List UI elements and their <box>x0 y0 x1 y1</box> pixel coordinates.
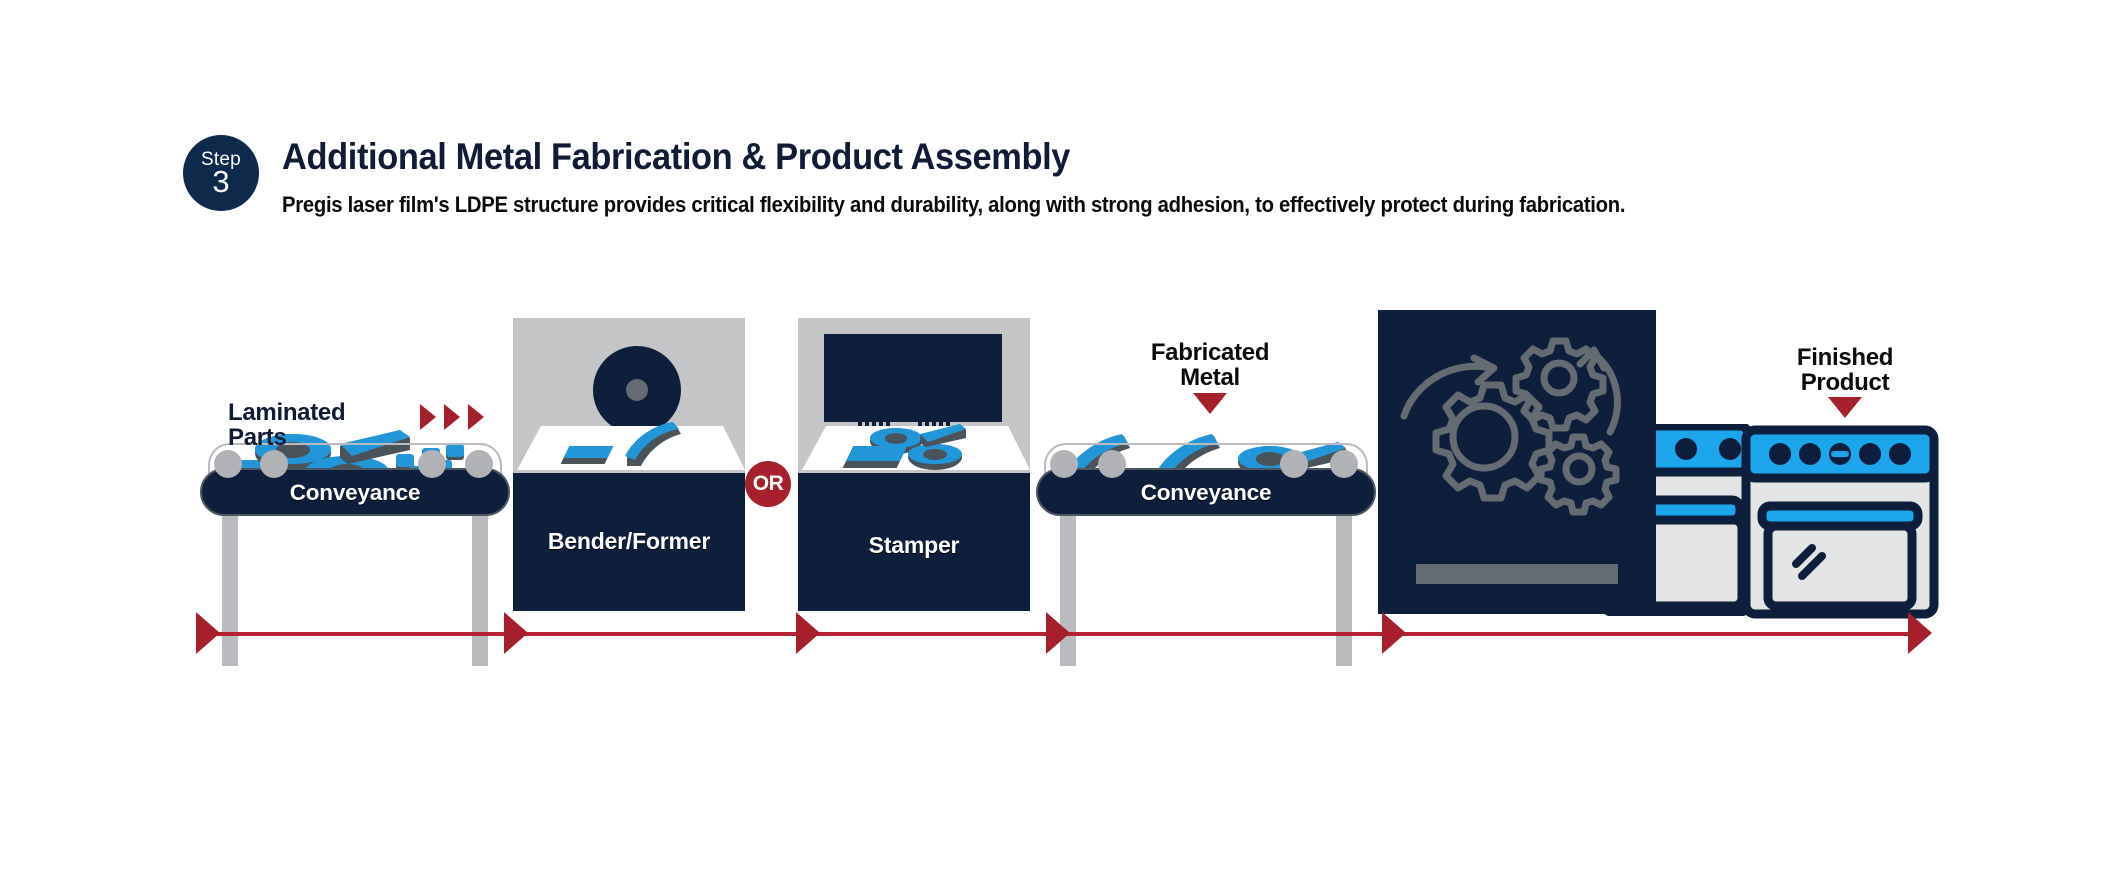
conveyor-roller <box>1330 450 1358 478</box>
conveyor-roller <box>465 450 493 478</box>
arrow-right-icon <box>196 612 220 654</box>
finished-product-line2: Product <box>1801 369 1890 396</box>
fabricated-metal-label: Fabricated Metal <box>1120 340 1300 390</box>
header: Step 3 Additional Metal Fabrication & Pr… <box>183 130 1983 240</box>
page-subtitle: Pregis laser film's LDPE structure provi… <box>282 192 1625 218</box>
conveyance-2-label: Conveyance <box>1036 480 1376 506</box>
part-wedge <box>920 424 966 448</box>
laminated-parts-label: Laminated Parts <box>228 400 408 450</box>
arrow-down-icon <box>1193 393 1227 414</box>
page-title: Additional Metal Fabrication & Product A… <box>282 136 1070 178</box>
arrow-right-icon <box>1046 612 1070 654</box>
conveyor-roller <box>1280 450 1308 478</box>
assembly-base-bar <box>1416 564 1618 584</box>
conveyor-leg <box>472 516 488 666</box>
chevron-right-icon <box>444 404 460 430</box>
finished-product-label: Finished Product <box>1760 345 1930 395</box>
conveyor-leg <box>1336 516 1352 666</box>
conveyor-roller <box>214 450 242 478</box>
step-badge: Step 3 <box>183 135 259 211</box>
or-divider-badge: OR <box>745 461 791 507</box>
stamper-machine: Stamper <box>798 318 1030 611</box>
wheel-hub-icon <box>626 379 648 401</box>
stamper-press-head <box>824 334 1002 422</box>
step-badge-number: 3 <box>212 166 229 197</box>
fabricated-metal-line1: Fabricated <box>1151 339 1269 366</box>
conveyance-1-label: Conveyance <box>200 480 510 506</box>
part-plate <box>843 446 908 468</box>
infographic-canvas: Step 3 Additional Metal Fabrication & Pr… <box>0 0 2128 873</box>
arrow-right-icon <box>1382 612 1406 654</box>
conveyor-roller <box>260 450 288 478</box>
bender-former-label: Bender/Former <box>513 528 745 555</box>
chevron-right-icon <box>468 404 484 430</box>
arrow-down-icon <box>1828 397 1862 418</box>
or-label: OR <box>753 472 784 496</box>
part-bent-metal <box>621 422 685 473</box>
arrow-right-icon <box>1908 612 1932 654</box>
assembly-panel <box>1378 310 1656 614</box>
gears-icon <box>1398 330 1628 560</box>
conveyor-leg <box>222 516 238 666</box>
chevron-right-icon <box>420 404 436 430</box>
part-plate <box>561 446 614 464</box>
stamper-label: Stamper <box>798 532 1030 559</box>
conveyor-roller <box>1050 450 1078 478</box>
fabricated-metal-line2: Metal <box>1180 364 1240 391</box>
oven-icon <box>1740 424 1940 624</box>
conveyor-roller <box>1098 450 1126 478</box>
finished-product-line1: Finished <box>1797 344 1893 371</box>
conveyor-roller <box>418 450 446 478</box>
arrow-right-icon <box>504 612 528 654</box>
bender-former-machine: Bender/Former <box>513 318 745 611</box>
arrow-right-icon <box>796 612 820 654</box>
